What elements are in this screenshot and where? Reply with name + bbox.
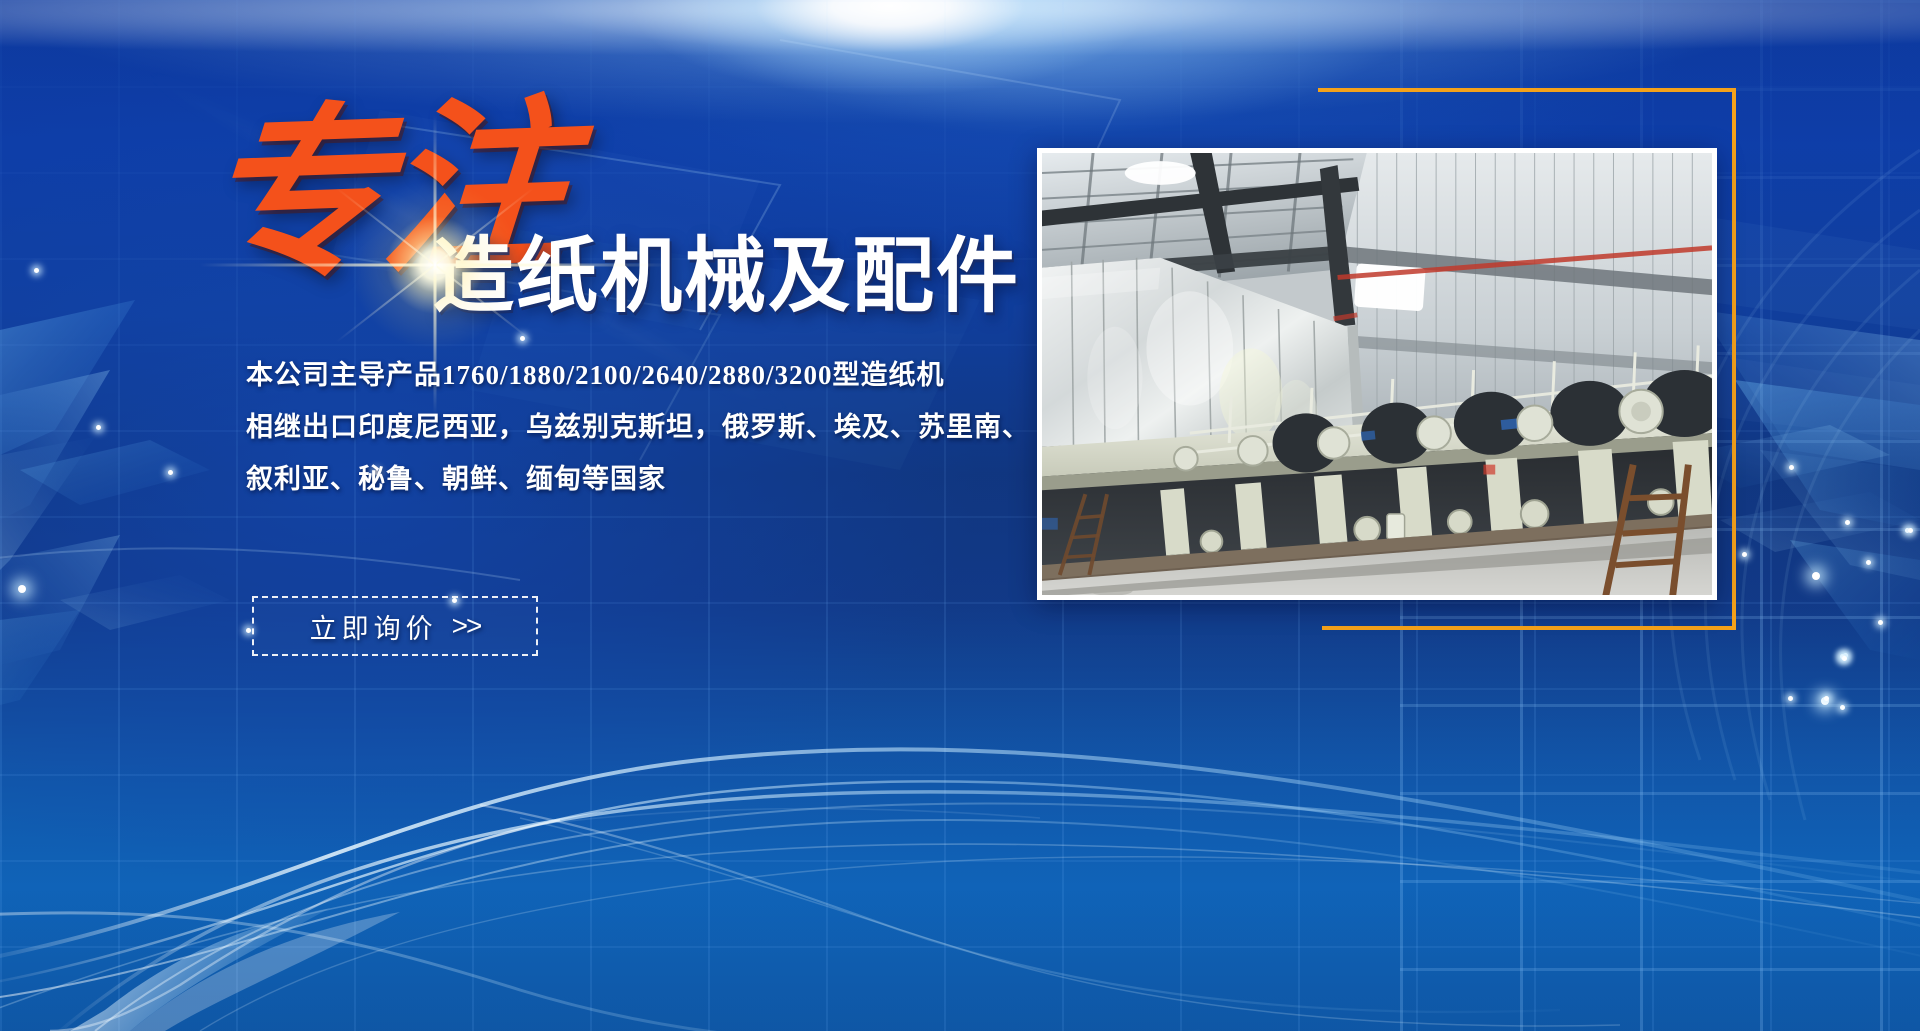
- banner-content: 专注 造纸机械及配件 本公司主导产品1760/1880/2100/2640/28…: [0, 0, 1920, 1031]
- description-line-1: 本公司主导产品1760/1880/2100/2640/2880/3200型造纸机: [246, 360, 1006, 390]
- description-block: 本公司主导产品1760/1880/2100/2640/2880/3200型造纸机…: [246, 360, 1006, 495]
- description-line-2: 相继出口印度尼西亚，乌兹别克斯坦，俄罗斯、埃及、苏里南、: [246, 412, 1006, 442]
- hero-banner: 专注 造纸机械及配件 本公司主导产品1760/1880/2100/2640/28…: [0, 0, 1920, 1031]
- description-line-3: 叙利亚、秘鲁、朝鲜、缅甸等国家: [246, 464, 1006, 494]
- decorative-orange-frame-corner: [1322, 626, 1326, 630]
- inquiry-button-label: 立即询价: [310, 607, 438, 646]
- page-title: 造纸机械及配件: [432, 236, 1020, 318]
- chevron-right-double-icon: >>: [452, 610, 481, 642]
- inquiry-button[interactable]: 立即询价 >>: [252, 596, 538, 656]
- product-photo[interactable]: 造纸机生产线车间实景照片: [1037, 148, 1717, 600]
